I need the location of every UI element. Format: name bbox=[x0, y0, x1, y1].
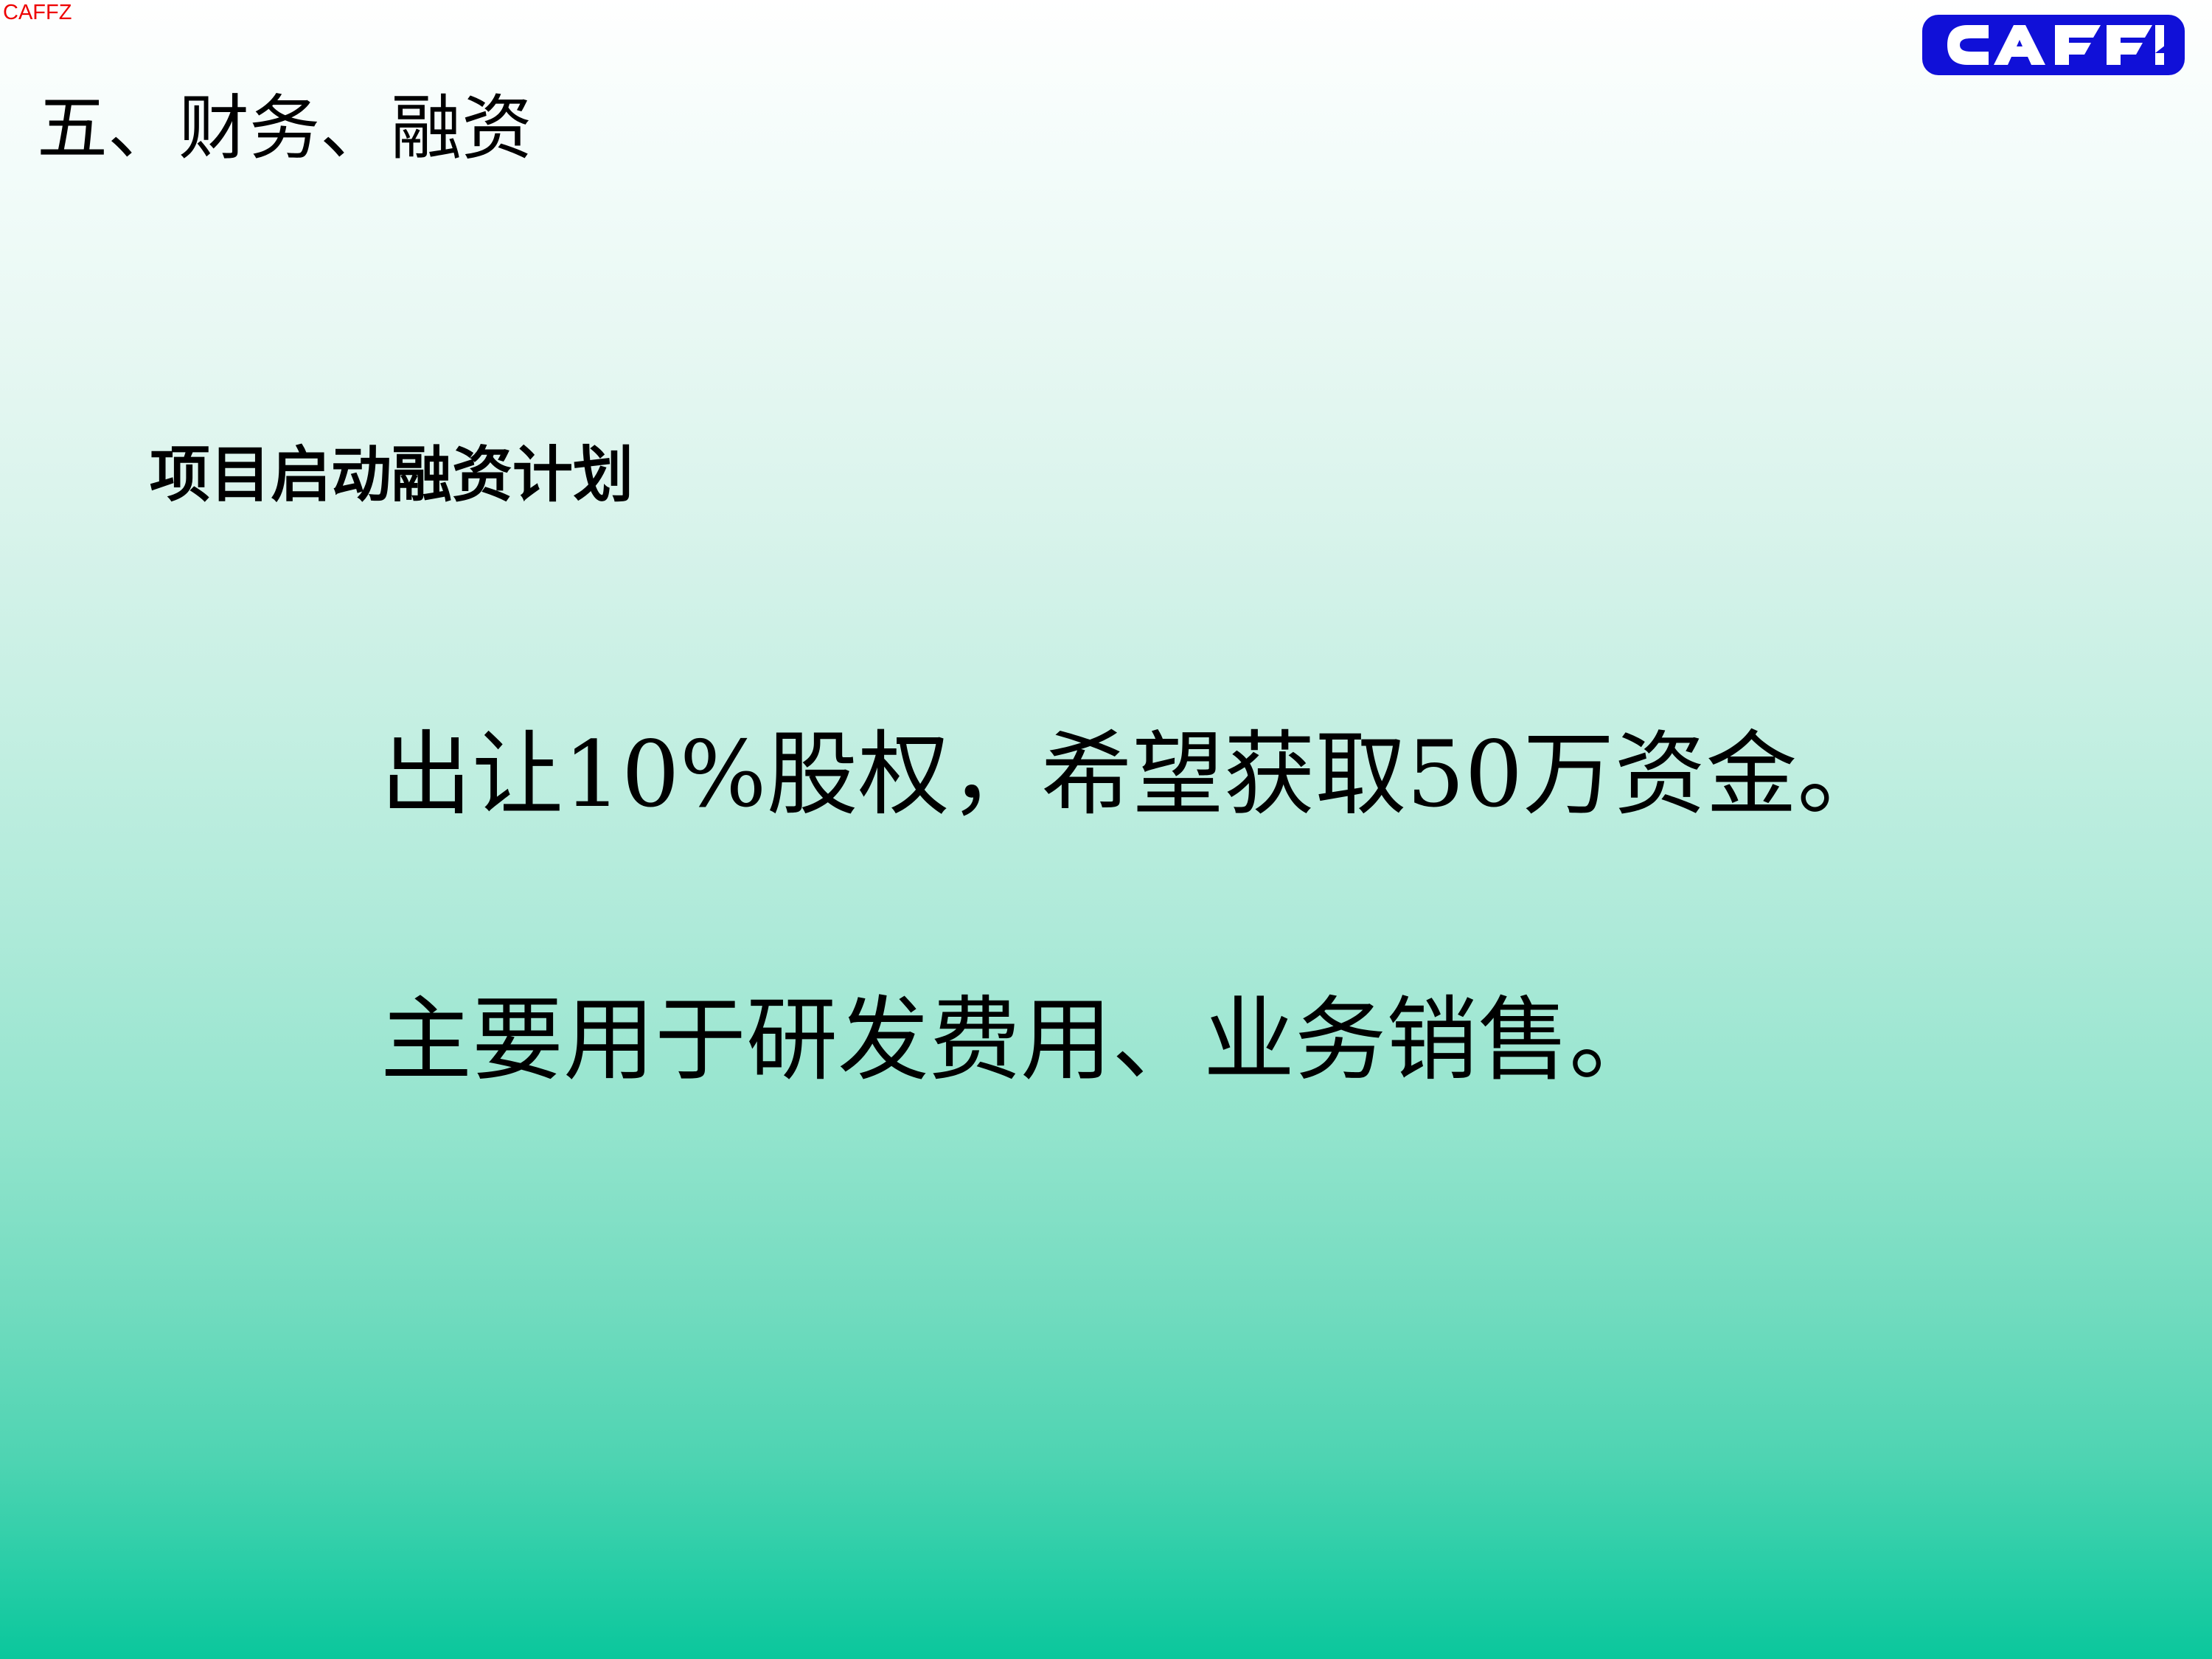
caffz-logo bbox=[1922, 15, 2185, 75]
section-subtitle: 项目启动融资计划 bbox=[150, 431, 633, 519]
body-line-2: 主要用于研发费用、业务销售。 bbox=[380, 992, 2165, 1089]
body-text-block: 出让10%股权，希望获取50万资金。 主要用于研发费用、业务销售。 bbox=[380, 726, 2165, 1089]
caffz-logo-wordmark bbox=[1943, 22, 2164, 68]
page-title: 五、财务、融资 bbox=[37, 86, 532, 171]
slide-canvas: CAFFZ 五、财务、融资 项目启动融资计划 出让10%股权，希望获取50万资金… bbox=[0, 0, 2212, 1659]
caffz-watermark-text: CAFFZ bbox=[3, 0, 72, 25]
body-line-1: 出让10%股权，希望获取50万资金。 bbox=[380, 726, 2165, 824]
